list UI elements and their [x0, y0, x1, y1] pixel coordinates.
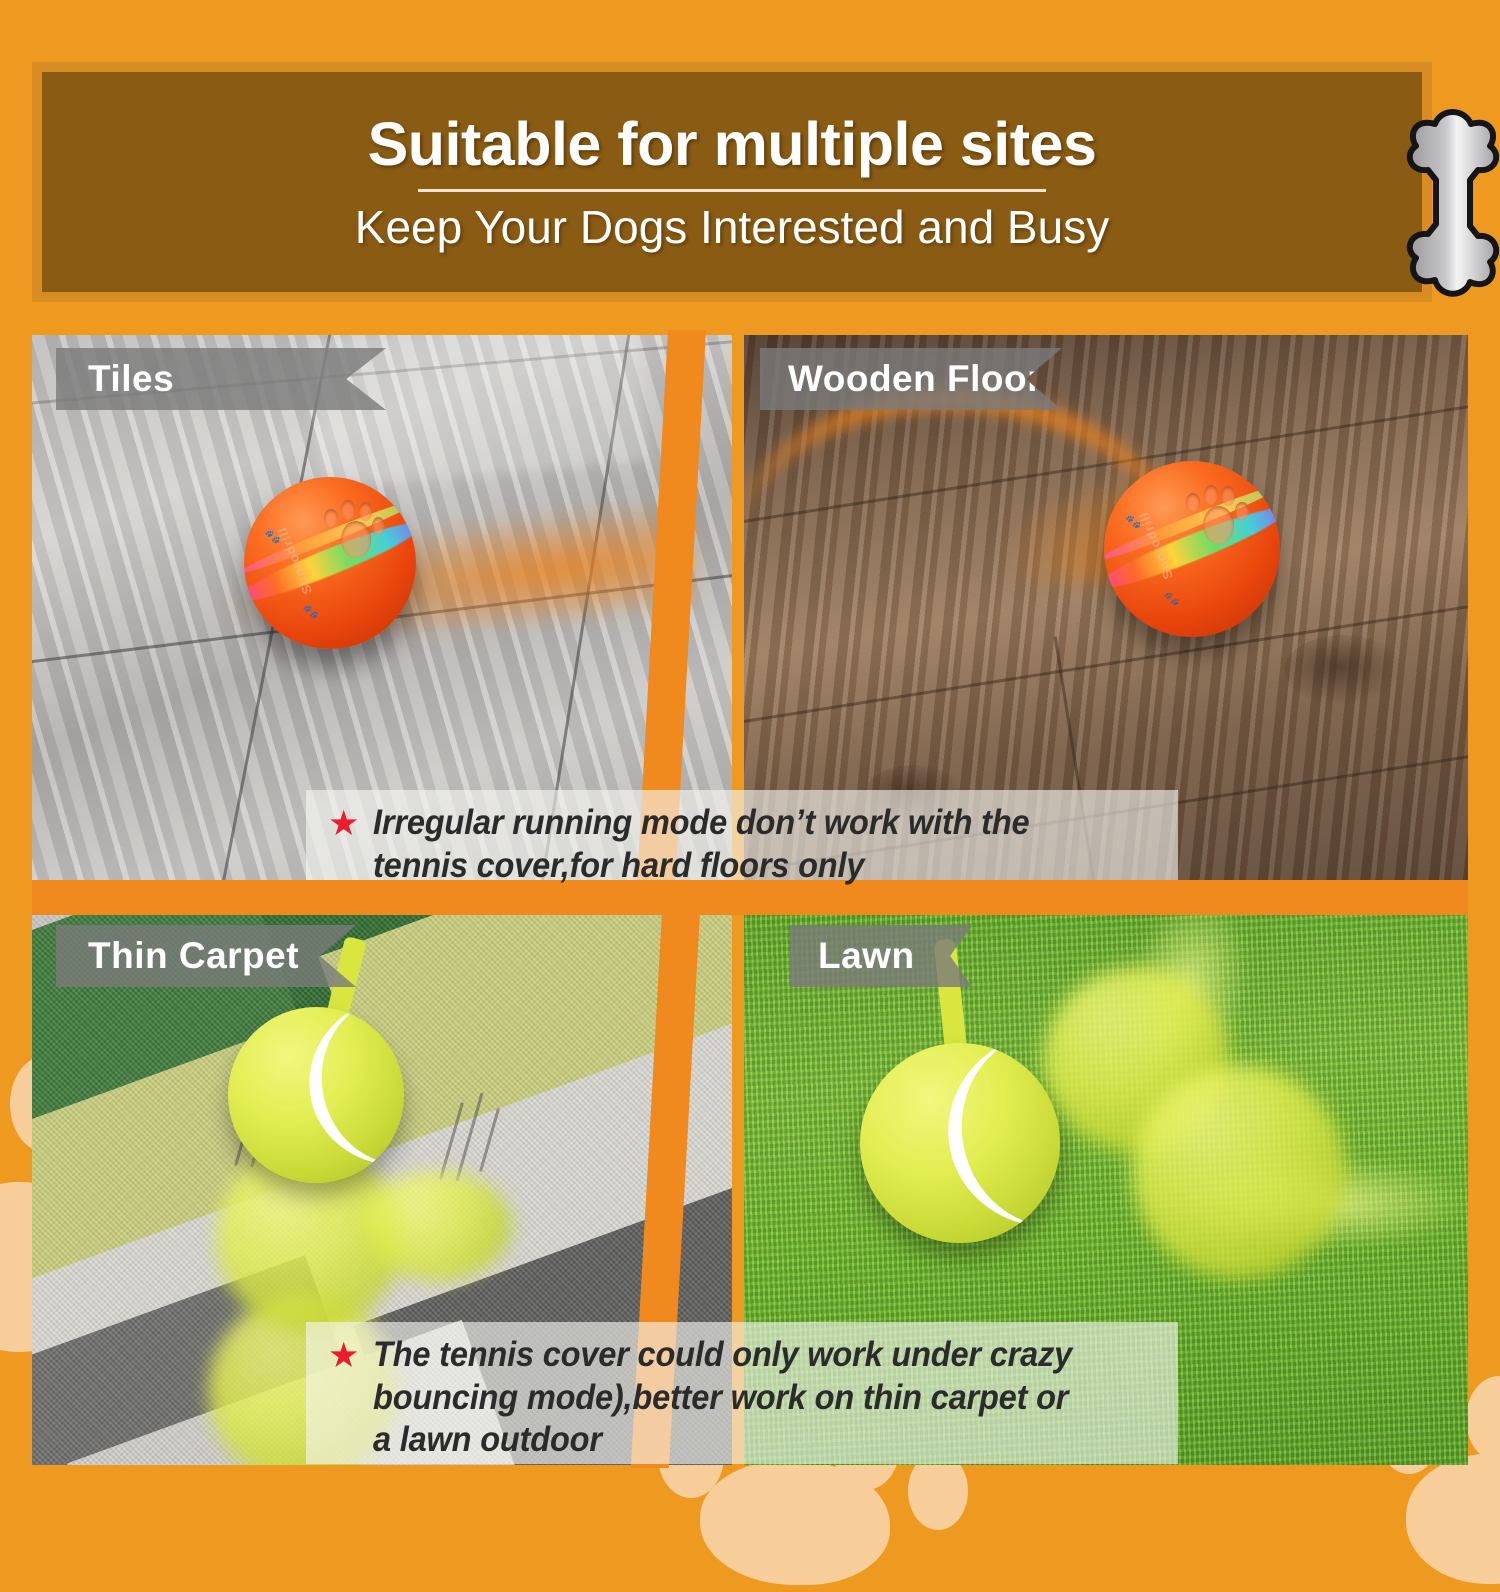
- paw-print-icon: 🐾: [265, 529, 281, 545]
- label-tiles: Tiles: [56, 348, 386, 410]
- caption-tennis-cover-note: ★ The tennis cover could only work under…: [306, 1322, 1178, 1464]
- caption-line: Irregular running mode don’t work with t…: [373, 803, 1029, 842]
- paw-print-icon: 🐾: [1125, 514, 1141, 530]
- caption-line: tennis cover,for hard floors only: [373, 846, 864, 885]
- tennis-ball-carpet: [228, 1007, 404, 1183]
- caption-line: bouncing mode),better work on thin carpe…: [373, 1378, 1068, 1417]
- surfaces-grid: Suprodrill 🐾 🐾 Suprodrill 🐾: [32, 335, 1468, 1465]
- label-thin-carpet: Thin Carpet: [56, 925, 356, 987]
- label-wooden-floor: Wooden Floor: [760, 348, 1062, 410]
- header-banner-inner: Suitable for multiple sites Keep Your Do…: [42, 72, 1422, 292]
- product-ball-tiles: Suprodrill 🐾 🐾: [244, 477, 416, 649]
- header-banner: Suitable for multiple sites Keep Your Do…: [32, 62, 1432, 302]
- paw-print-icon: [321, 498, 390, 567]
- page-subtitle: Keep Your Dogs Interested and Busy: [355, 204, 1109, 250]
- caption-hard-floor-note: ★ Irregular running mode don’t work with…: [306, 790, 1178, 880]
- product-ball-wooden-floor: Suprodrill 🐾 🐾: [1104, 461, 1280, 637]
- caption-line: The tennis cover could only work under c…: [373, 1335, 1072, 1374]
- title-divider-rule: [418, 189, 1046, 192]
- caption-line: a lawn outdoor: [373, 1420, 602, 1459]
- tennis-ball-blur-lawn-right: [1132, 1065, 1346, 1279]
- paw-print-icon: [1183, 482, 1253, 552]
- star-icon: ★: [328, 1338, 359, 1373]
- tennis-ball-blur-carpet-side: [362, 1171, 512, 1281]
- tennis-ball-lawn: [860, 1043, 1060, 1243]
- star-icon: ★: [328, 806, 359, 841]
- paw-print-icon: 🐾: [1164, 591, 1180, 607]
- paw-print-icon: 🐾: [302, 604, 318, 620]
- caption-hard-floor-text: Irregular running mode don’t work with t…: [373, 802, 1029, 887]
- bone-icon: [1404, 84, 1500, 316]
- caption-tennis-cover-text: The tennis cover could only work under c…: [373, 1334, 1072, 1462]
- label-lawn: Lawn: [790, 925, 972, 987]
- page-title: Suitable for multiple sites: [368, 114, 1097, 175]
